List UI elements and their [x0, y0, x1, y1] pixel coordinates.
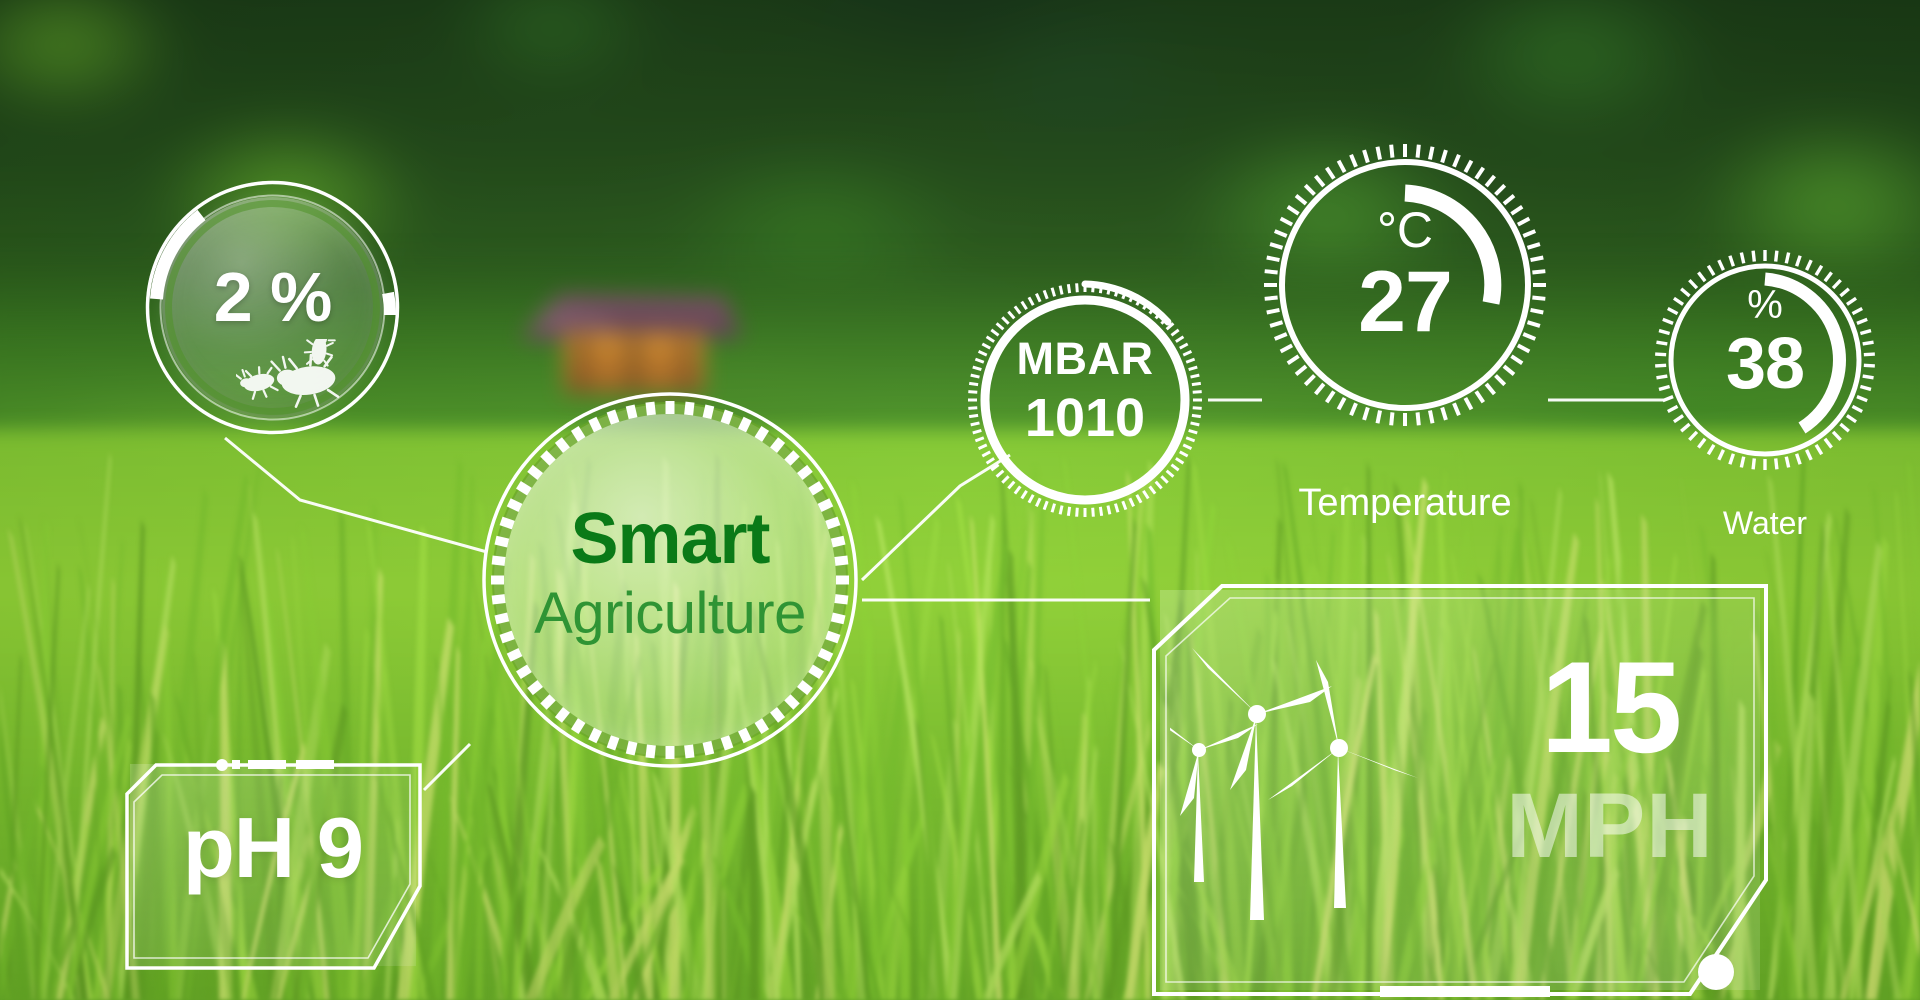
temperature-caption: Temperature [1255, 482, 1555, 525]
pressure-unit: MBAR [960, 333, 1210, 385]
temperature-unit: °C [1255, 201, 1555, 259]
ph-panel[interactable]: pH 9 [122, 756, 424, 974]
ph-value: pH 9 [122, 800, 424, 898]
temperature-gauge[interactable]: °C 27 [1255, 135, 1555, 435]
smart-agriculture-infographic: 2 % [0, 0, 1920, 1000]
wind-unit: MPH [1480, 780, 1740, 872]
wind-value: 15 [1480, 642, 1740, 772]
water-value: 38 [1650, 323, 1880, 405]
pressure-value: 1010 [960, 387, 1210, 449]
smart-subtitle: Agriculture [470, 580, 870, 647]
wind-panel[interactable]: 15 MPH [1150, 580, 1770, 1000]
water-gauge[interactable]: % 38 [1650, 245, 1880, 475]
temperature-value: 27 [1255, 253, 1555, 352]
pressure-gauge[interactable]: MBAR 1010 [960, 275, 1210, 525]
water-caption: Water [1650, 505, 1880, 542]
pest-gauge[interactable]: 2 % [140, 175, 405, 440]
pest-value: 2 % [140, 257, 405, 337]
smart-title: Smart [470, 498, 870, 580]
water-unit: % [1650, 283, 1880, 328]
wind-turbine-icon [1170, 620, 1490, 990]
insects-icon [236, 339, 386, 417]
smart-agriculture-badge[interactable]: Smart Agriculture [470, 380, 870, 780]
